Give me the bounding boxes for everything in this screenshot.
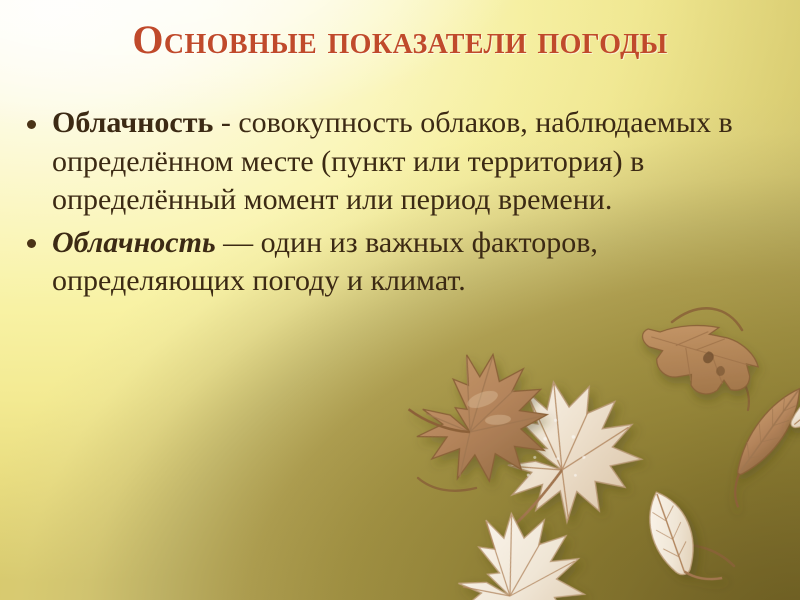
slide-canvas: Основные показатели погоды Облачность - … (0, 0, 800, 600)
list-item: Облачность - совокупность облаков, наблю… (18, 104, 786, 220)
bullet-marker-icon (27, 120, 36, 129)
bullet-lead-term: Облачность (52, 226, 216, 259)
page-title: Основные показатели погоды (0, 18, 800, 63)
bullet-lead-term: Облачность (52, 106, 213, 139)
list-item: Облачность — один из важных факторов, оп… (18, 224, 786, 301)
bullet-list: Облачность - совокупность облаков, наблю… (18, 104, 786, 301)
bullet-marker-icon (27, 239, 36, 248)
slide-content: Основные показатели погоды Облачность - … (0, 0, 800, 600)
